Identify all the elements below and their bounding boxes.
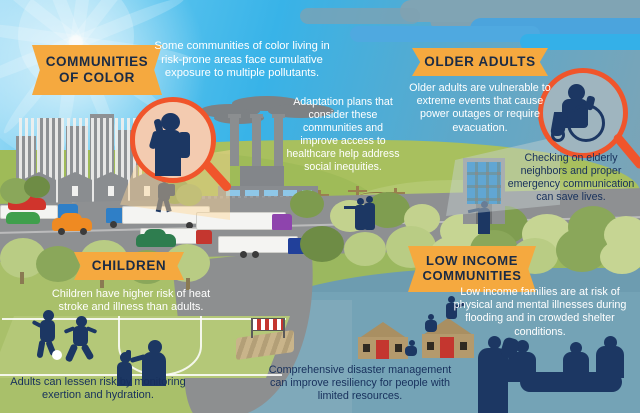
rowhouse-window: [108, 186, 114, 196]
infographic-canvas: COMMUNITIES OF COLOR OLDER ADULTS CHILDR…: [0, 0, 640, 413]
banner-communities-of-color[interactable]: COMMUNITIES OF COLOR: [32, 45, 162, 95]
couple-pointing-arm: [344, 206, 358, 209]
couple-head: [357, 198, 364, 205]
smokestack: [274, 116, 283, 166]
tree: [344, 232, 386, 266]
magnified-person-backpack: [178, 132, 190, 158]
caption-older-adults-risk: Older adults are vulnerable to extreme e…: [404, 82, 556, 135]
banner-label: CHILDREN: [92, 258, 167, 274]
barrier-post: [283, 318, 285, 338]
boat-person-body: [596, 346, 624, 378]
person-crouched-body: [425, 320, 437, 332]
caption-communities-risk: Some communities of color living in risk…: [150, 40, 334, 81]
tree-trunk: [20, 272, 24, 284]
child-soccer-body: [40, 320, 55, 342]
truck-cab: [196, 230, 212, 244]
smokestack: [252, 116, 261, 166]
tree: [556, 228, 608, 272]
car-wheel: [58, 228, 65, 235]
boat-person-body: [563, 352, 589, 378]
couple-body: [364, 203, 375, 230]
truck-trailer: [218, 236, 298, 253]
banner-line-2: OF COLOR: [59, 70, 135, 86]
storm-cloud: [300, 8, 420, 24]
car-wheel: [80, 228, 87, 235]
storm-cloud: [350, 26, 540, 42]
smokestack-cap: [228, 114, 241, 118]
truck-cab: [272, 214, 292, 230]
tree: [36, 246, 80, 282]
rowhouse-window: [72, 186, 78, 196]
smokestack-cap: [250, 114, 263, 118]
water-bottle: [126, 350, 131, 359]
caption-communities-action: Adaptation plans that consider these com…: [284, 96, 402, 174]
truck-wheel: [252, 251, 259, 258]
caption-low-income-action: Comprehensive disaster management can im…: [268, 364, 452, 404]
storm-cloud: [520, 34, 640, 50]
couple-head: [366, 196, 373, 203]
house-door: [440, 337, 454, 358]
caption-children-action: Adults can lessen risk by monitoring exe…: [8, 376, 188, 403]
house-window: [395, 344, 402, 352]
house-window: [363, 344, 370, 352]
tree: [300, 226, 344, 262]
tree: [290, 190, 324, 218]
banner-older-adults[interactable]: OLDER ADULTS: [412, 48, 548, 76]
banner-label: OLDER ADULTS: [424, 54, 535, 70]
car: [6, 212, 40, 224]
banner-line-1: LOW INCOME: [426, 254, 518, 269]
tree: [600, 240, 640, 274]
smokestack: [230, 116, 239, 166]
banner-line-2: COMMUNITIES: [422, 269, 521, 284]
person-in-water-body: [405, 346, 417, 356]
magnified-person-head: [161, 113, 180, 131]
power-pole-bar: [348, 190, 367, 192]
banner-children[interactable]: CHILDREN: [74, 252, 184, 280]
barrier-post: [251, 318, 253, 338]
tree: [24, 176, 50, 198]
truck-wheel: [240, 251, 247, 258]
truck-wheel: [110, 221, 117, 228]
house-door: [376, 340, 389, 359]
barrier-sign: [252, 318, 284, 331]
caption-older-adults-action: Checking on elderly neighbors and proper…: [504, 152, 638, 204]
caption-low-income-risk: Low income families are at risk of physi…: [452, 286, 628, 339]
car-roof: [144, 229, 166, 236]
house-window: [427, 342, 434, 350]
house-window: [460, 342, 467, 350]
carrier-body: [478, 348, 508, 413]
soccer-ball: [52, 350, 62, 360]
banner-line-1: COMMUNITIES: [46, 54, 149, 70]
car-roof: [60, 213, 82, 220]
caption-children-risk: Children have higher risk of heat stroke…: [48, 288, 214, 315]
wheelchair-large-wheel: [567, 104, 605, 142]
